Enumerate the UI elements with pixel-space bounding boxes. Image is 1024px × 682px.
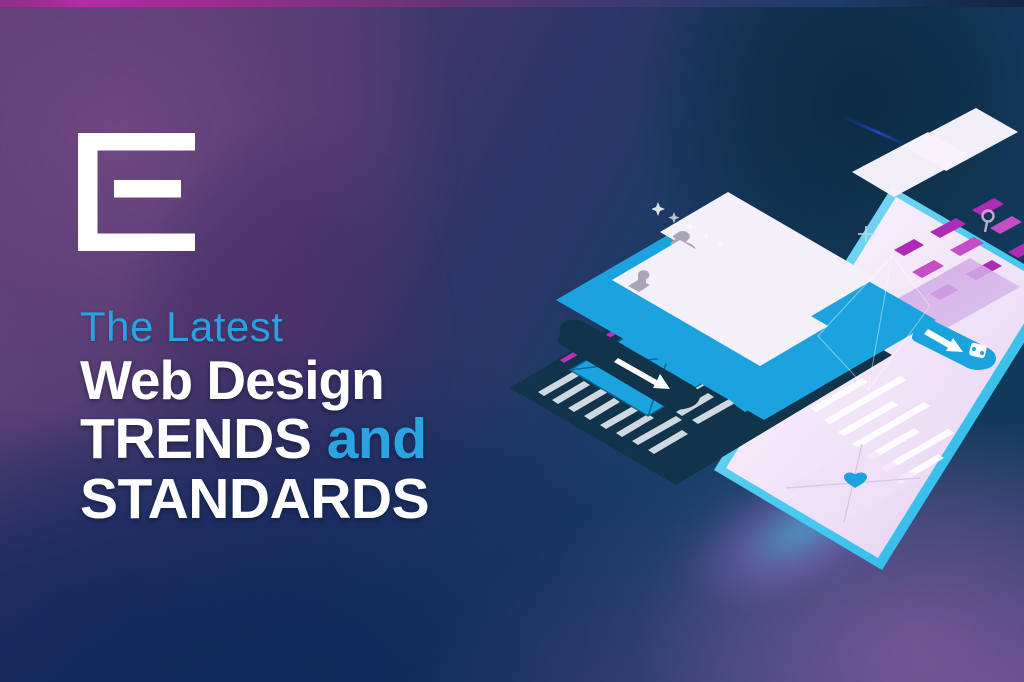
e-monogram-icon <box>78 133 195 251</box>
isometric-ui-mockup-icon <box>500 140 1024 610</box>
isometric-illustration <box>500 140 1024 610</box>
headline-trends: TRENDS <box>80 407 311 471</box>
promo-banner: The Latest Web Design TRENDS and STANDAR… <box>0 0 1024 682</box>
magenta-top-strip <box>0 0 1024 7</box>
headline-and: and <box>327 407 427 471</box>
brand-logo <box>78 133 195 251</box>
